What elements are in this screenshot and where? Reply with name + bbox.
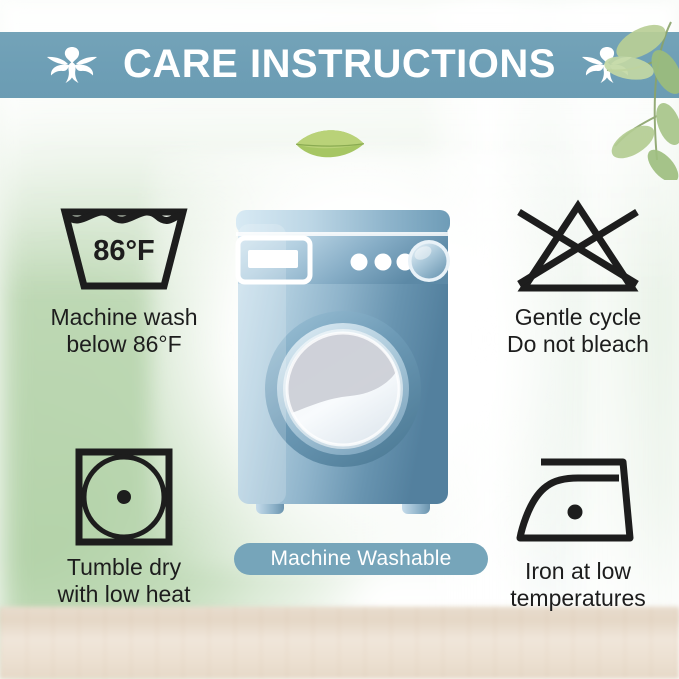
page-title: CARE INSTRUCTIONS [123, 44, 556, 86]
machine-washable-badge: Machine Washable [234, 543, 488, 575]
caption-line-2: Do not bleach [478, 331, 678, 358]
header-banner: CARE INSTRUCTIONS [0, 32, 679, 98]
washing-machine-illustration [232, 206, 454, 536]
machine-buttons [351, 254, 414, 271]
caption-line-1: Machine wash [14, 304, 234, 331]
triangle-crossed-icon [478, 194, 678, 298]
symbol-machine-wash: 86°F Machine wash below 86°F [14, 194, 234, 357]
symbol-caption-do-not-bleach: Gentle cycle Do not bleach [478, 304, 678, 357]
machine-dial [408, 240, 450, 282]
symbol-caption-iron: Iron at low temperatures [478, 558, 678, 611]
caption-line-2: temperatures [478, 585, 678, 612]
care-instructions-infographic: CARE INSTRUCTIONS [0, 0, 679, 679]
wood-surface [0, 607, 679, 679]
caption-line-2: with low heat [14, 581, 234, 608]
badge-label: Machine Washable [270, 547, 451, 571]
symbol-caption-tumble-dry: Tumble dry with low heat [14, 554, 234, 607]
wash-temperature-value: 86°F [93, 235, 155, 267]
symbol-do-not-bleach: Gentle cycle Do not bleach [478, 194, 678, 357]
symbol-caption-machine-wash: Machine wash below 86°F [14, 304, 234, 357]
caption-line-1: Gentle cycle [478, 304, 678, 331]
fleur-de-lis-icon-left [43, 42, 101, 88]
wash-tub-icon: 86°F [14, 194, 234, 298]
caption-line-2: below 86°F [14, 331, 234, 358]
iron-icon [478, 448, 678, 552]
tumble-dry-square-icon [14, 444, 234, 548]
machine-door [265, 311, 421, 467]
caption-line-1: Tumble dry [14, 554, 234, 581]
symbol-iron-low: Iron at low temperatures [478, 448, 678, 611]
fleur-de-lis-icon-right [578, 42, 636, 88]
caption-line-1: Iron at low [478, 558, 678, 585]
symbol-tumble-dry-low: Tumble dry with low heat [14, 444, 234, 607]
